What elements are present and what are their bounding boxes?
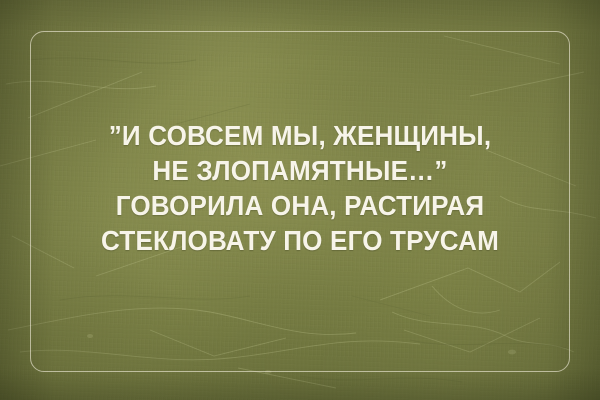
- quote-line-1: ”И СОВСЕМ МЫ, ЖЕНЩИНЫ,: [21, 118, 579, 153]
- quote-line-2: НЕ ЗЛОПАМЯТНЫЕ…”: [21, 153, 579, 188]
- quote-line-4: СТЕКЛОВАТУ ПО ЕГО ТРУСАМ: [21, 223, 579, 258]
- quote-text-block: ”И СОВСЕМ МЫ, ЖЕНЩИНЫ, НЕ ЗЛОПАМЯТНЫЕ…” …: [21, 118, 579, 258]
- quote-card: ”И СОВСЕМ МЫ, ЖЕНЩИНЫ, НЕ ЗЛОПАМЯТНЫЕ…” …: [0, 0, 600, 400]
- quote-line-3: ГОВОРИЛА ОНА, РАСТИРАЯ: [21, 188, 579, 223]
